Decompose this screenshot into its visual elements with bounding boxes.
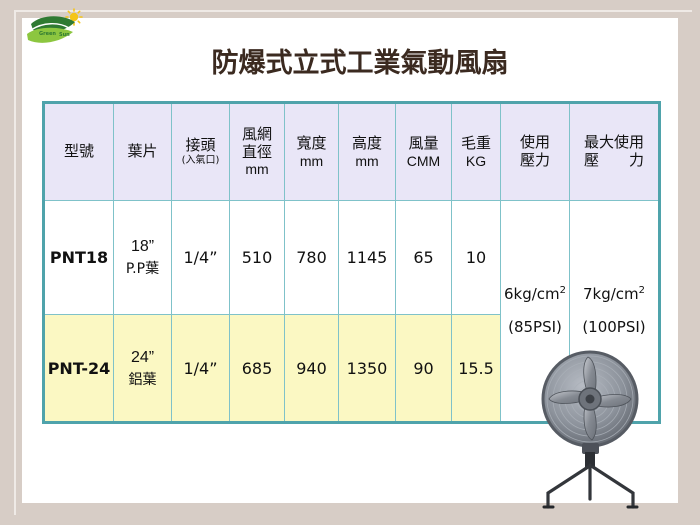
header-label: 使用: [520, 133, 550, 151]
cell-width: 940: [285, 315, 339, 423]
pedestal-fan-photo: [512, 347, 672, 512]
header-cell-guard-diameter: 風網 直徑 mm: [230, 103, 285, 201]
page-title: 防爆式立式工業氣動風扇: [60, 41, 660, 80]
table-header-row: 型號 葉片 接頭 (入氣口) 風網 直徑 mm 寬度 mm: [44, 103, 660, 201]
header-unit: KG: [452, 153, 500, 170]
header-label: 葉片: [127, 142, 157, 160]
cell-airflow: 65: [396, 201, 452, 315]
header-label: 型號: [64, 142, 94, 160]
svg-text:Green: Green: [39, 31, 56, 37]
cell-airflow: 90: [396, 315, 452, 423]
header-unit: CMM: [396, 153, 451, 170]
page-title-text: 防爆式立式工業氣動風扇: [212, 48, 509, 79]
header-unit: mm: [285, 153, 338, 170]
cell-guard-diameter: 685: [230, 315, 285, 423]
cell-blade: 24” 鋁葉: [114, 315, 172, 423]
working-pressure-psi: (85PSI): [501, 311, 569, 344]
header-cell-height: 高度 mm: [339, 103, 396, 201]
max-pressure-value: 7kg/cm: [583, 285, 639, 303]
table-row: PNT18 18” P.P葉 1/4” 510 780 1145 65 10 6…: [44, 201, 660, 315]
header-cell-connector: 接頭 (入氣口): [172, 103, 230, 201]
header-label: 風量: [408, 134, 438, 152]
header-label-2: 壓 力: [584, 151, 644, 169]
cell-model: PNT18: [44, 201, 114, 315]
header-label-2: 直徑: [242, 143, 272, 161]
header-cell-model: 型號: [44, 103, 114, 201]
header-label-2: 壓力: [520, 151, 550, 169]
header-unit: mm: [230, 161, 284, 178]
slide-canvas: Green Sun 防爆式立式工業氣動風扇 型號 葉: [0, 0, 700, 525]
header-label: 最大使用: [584, 133, 644, 151]
working-pressure-exponent: 2: [560, 285, 566, 296]
cell-connector: 1/4”: [172, 315, 230, 423]
header-label: 高度: [352, 134, 382, 152]
working-pressure-value: 6kg/cm: [504, 285, 560, 303]
header-cell-width: 寬度 mm: [285, 103, 339, 201]
cell-gross-weight: 15.5: [452, 315, 501, 423]
header-cell-max-pressure: 最大使用 壓 力: [570, 103, 660, 201]
frame-hairline-top: [14, 10, 692, 12]
header-label: 寬度: [296, 134, 326, 152]
header-label: 接頭: [185, 136, 215, 154]
cell-blade: 18” P.P葉: [114, 201, 172, 315]
cell-height: 1350: [339, 315, 396, 423]
frame-hairline-left: [14, 10, 16, 515]
cell-gross-weight: 10: [452, 201, 501, 315]
cell-height: 1145: [339, 201, 396, 315]
max-pressure-exponent: 2: [639, 285, 645, 296]
header-unit: mm: [339, 153, 395, 170]
header-label: 毛重: [461, 134, 491, 152]
blade-material: 鋁葉: [129, 372, 157, 388]
max-pressure-psi: (100PSI): [570, 311, 658, 344]
blade-size: 18”: [131, 238, 154, 255]
header-label: 風網: [242, 125, 272, 143]
header-cell-blade: 葉片: [114, 103, 172, 201]
header-sublabel: (入氣口): [172, 155, 229, 167]
cell-connector: 1/4”: [172, 201, 230, 315]
cell-model: PNT-24: [44, 315, 114, 423]
blade-size: 24”: [131, 349, 154, 366]
header-cell-airflow: 風量 CMM: [396, 103, 452, 201]
cell-guard-diameter: 510: [230, 201, 285, 315]
cell-width: 780: [285, 201, 339, 315]
header-cell-working-pressure: 使用 壓力: [501, 103, 570, 201]
blade-material: P.P葉: [126, 261, 159, 277]
header-cell-gross-weight: 毛重 KG: [452, 103, 501, 201]
svg-text:Sun: Sun: [59, 32, 70, 38]
